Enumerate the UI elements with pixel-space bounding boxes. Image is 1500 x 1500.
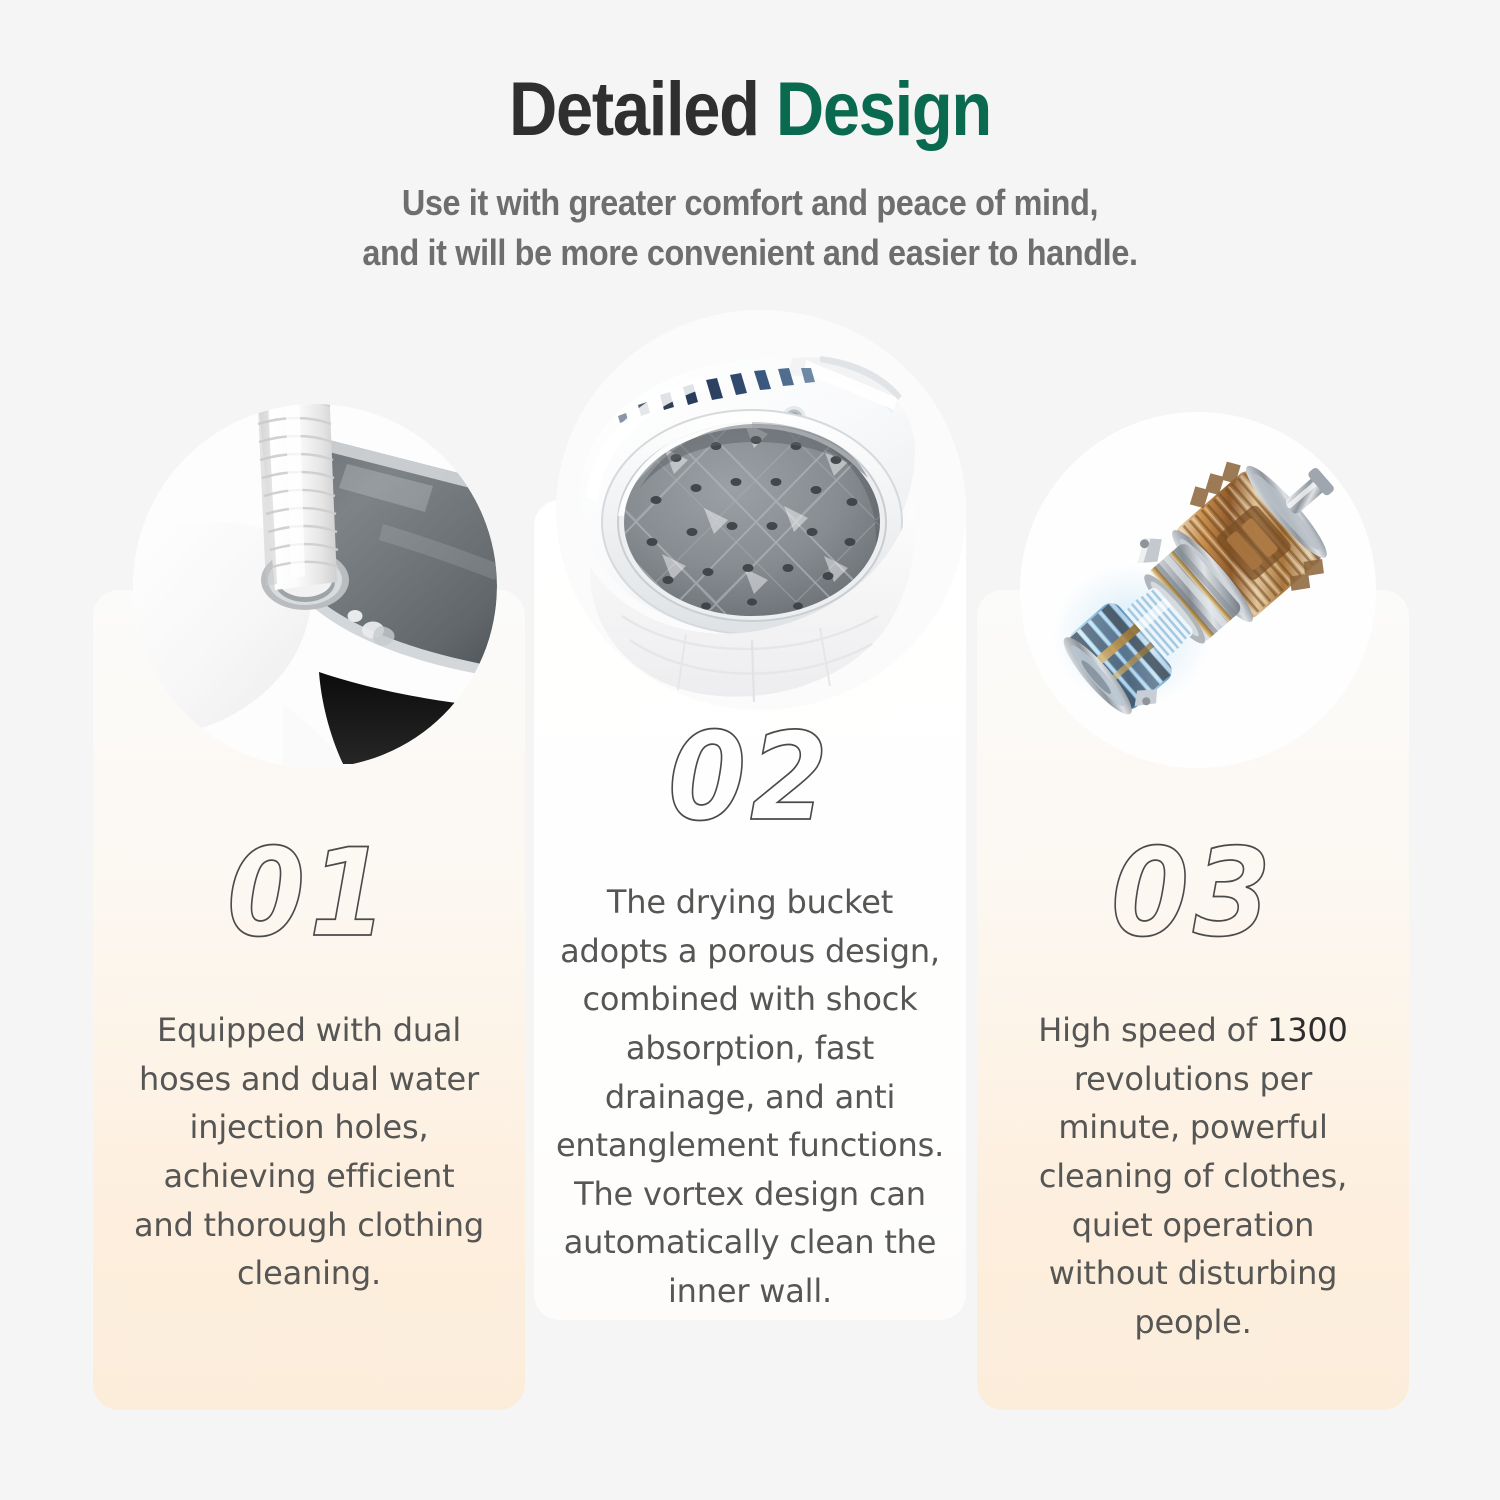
page-subtitle: Use it with greater comfort and peace of… bbox=[75, 178, 1425, 277]
drain-hose-inlet-illustration bbox=[133, 404, 497, 768]
page-title-primary: Detailed bbox=[509, 67, 776, 152]
feature-card-02-content: 02 The drying bucket adopts a porous des… bbox=[534, 722, 966, 1316]
feature-card-03-content: 03 High speed of 1300 revolutions per mi… bbox=[977, 838, 1409, 1346]
feature-number-01: 01 bbox=[227, 834, 391, 955]
feature-description-03-before: High speed of bbox=[1038, 1011, 1267, 1049]
porous-drying-bucket-photo bbox=[556, 310, 966, 710]
page-subtitle-line-2: and it will be more convenient and easie… bbox=[75, 228, 1425, 278]
porous-drying-bucket-illustration bbox=[556, 310, 966, 710]
feature-card-01-content: 01 Equipped with dual hoses and dual wat… bbox=[93, 838, 525, 1298]
page-title: Detailed Design bbox=[90, 72, 1410, 148]
feature-number-03: 03 bbox=[1111, 834, 1275, 955]
feature-description-03: High speed of 1300 revolutions per minut… bbox=[1013, 1006, 1373, 1346]
high-speed-motor-illustration bbox=[1020, 412, 1376, 768]
header: Detailed Design Use it with greater comf… bbox=[0, 0, 1500, 277]
feature-description-02: The drying bucket adopts a porous design… bbox=[554, 878, 946, 1316]
feature-description-01: Equipped with dual hoses and dual water … bbox=[129, 1006, 489, 1298]
page-subtitle-line-1: Use it with greater comfort and peace of… bbox=[75, 178, 1425, 228]
feature-number-02: 02 bbox=[668, 718, 832, 839]
feature-description-03-after: revolutions per minute, powerful cleanin… bbox=[1039, 1060, 1347, 1341]
page-title-accent: Design bbox=[776, 67, 991, 152]
infographic-page: Detailed Design Use it with greater comf… bbox=[0, 0, 1500, 1500]
feature-rpm-value: 1300 bbox=[1267, 1011, 1348, 1049]
drain-hose-inlet-photo bbox=[133, 404, 497, 768]
high-speed-motor-photo bbox=[1020, 412, 1376, 768]
